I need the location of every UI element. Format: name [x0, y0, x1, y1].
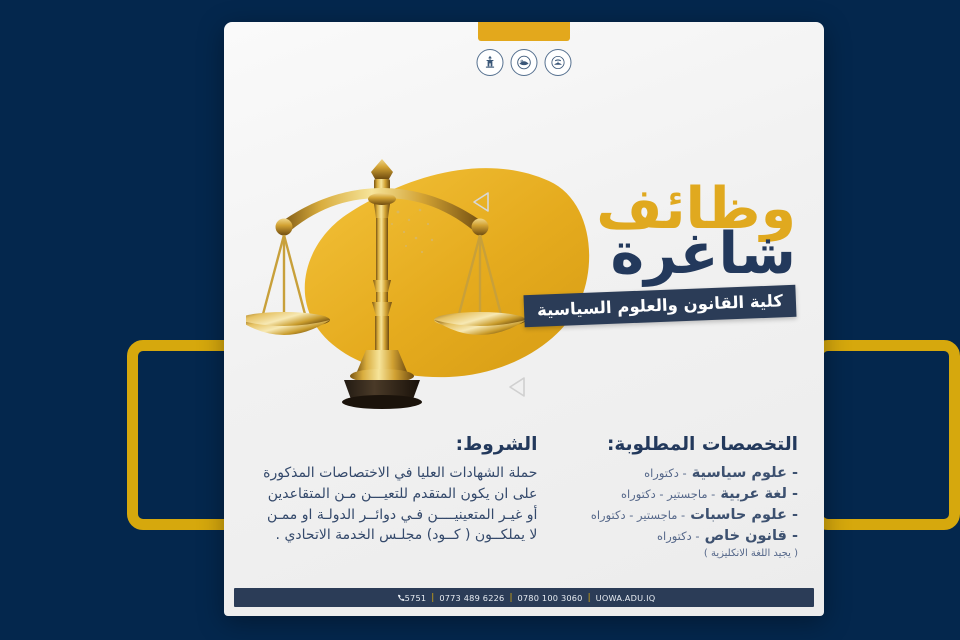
logo-row — [477, 49, 572, 76]
specialization-item: - علوم حاسبات - ماجستير - دكتوراه — [537, 505, 798, 526]
specializations-column: التخصصات المطلوبة: - علوم سياسية - دكتور… — [537, 434, 798, 559]
specialization-field: - لغة عربية — [720, 486, 798, 502]
university-logo-icon — [511, 49, 538, 76]
specialization-degrees: - دكتوراه — [644, 466, 687, 480]
specialization-field: - علوم سياسية — [692, 465, 798, 481]
footer-separator: | — [431, 593, 434, 603]
specializations-note: ( يجيد اللغة الانكليزية ) — [537, 548, 798, 559]
college-logo-icon — [545, 49, 572, 76]
conditions-line: على ان يكون المتقدم للتعيـــن مـن المتقا… — [250, 484, 537, 505]
top-gold-tab — [478, 22, 570, 41]
ministry-logo-icon — [477, 49, 504, 76]
conditions-line: أو غيـر المتعينيــــن فـي دوائــر الدولـ… — [250, 505, 537, 526]
headline-banner: كلية القانون والعلوم السياسية — [523, 285, 796, 327]
poster-canvas: وظائف شاغرة كلية القانون والعلوم السياسي… — [0, 0, 960, 640]
gold-frame-right — [812, 340, 960, 530]
footer-contact-bar: 5751 | 0773 489 6226 | 0780 100 3060 | U… — [234, 588, 814, 607]
specialization-item: - علوم سياسية - دكتوراه — [537, 463, 798, 484]
conditions-line: لا يملكــون ( كــود) مجلـس الخدمة الاتحا… — [250, 525, 537, 546]
specializations-heading: التخصصات المطلوبة: — [537, 434, 798, 456]
content-columns: التخصصات المطلوبة: - علوم سياسية - دكتور… — [224, 434, 824, 559]
conditions-line: حملة الشهادات العليا في الاختصاصات المذك… — [250, 463, 537, 484]
specialization-degrees: - ماجستير - دكتوراه — [591, 508, 685, 522]
poster-card: وظائف شاغرة كلية القانون والعلوم السياسي… — [224, 22, 824, 616]
specialization-field: - علوم حاسبات — [690, 507, 798, 523]
footer-separator: | — [509, 593, 512, 603]
specialization-item: - قانون خاص - دكتوراه — [537, 526, 798, 547]
specialization-item: - لغة عربية - ماجستير - دكتوراه — [537, 484, 798, 505]
specialization-field: - قانون خاص — [705, 528, 798, 544]
footer-phone-1: 5751 — [405, 593, 427, 603]
phone-icon — [397, 594, 405, 602]
footer-website: UOWA.ADU.IQ — [596, 593, 656, 603]
footer-phone-2: 0773 489 6226 — [439, 593, 504, 603]
triangle-decoration-bottom — [503, 372, 533, 402]
headline-block: وظائف شاغرة كلية القانون والعلوم السياسي… — [466, 182, 796, 322]
conditions-column: الشروط: حملة الشهادات العليا في الاختصاص… — [250, 434, 537, 559]
specialization-degrees: - دكتوراه — [657, 529, 700, 543]
conditions-heading: الشروط: — [250, 434, 537, 456]
footer-separator: | — [588, 593, 591, 603]
headline-secondary: شاغرة — [466, 227, 796, 282]
specialization-degrees: - ماجستير - دكتوراه — [621, 487, 715, 501]
footer-phone-3: 0780 100 3060 — [517, 593, 582, 603]
